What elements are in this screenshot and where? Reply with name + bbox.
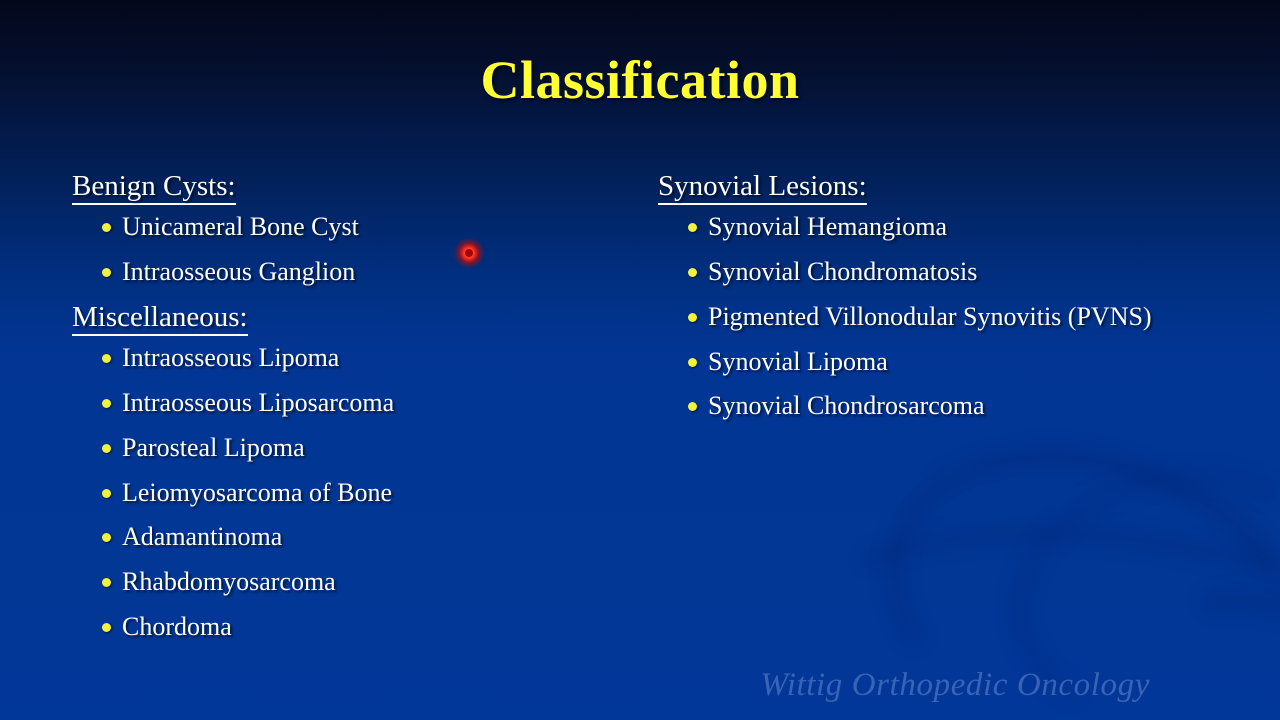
bullet-list-miscellaneous: Intraosseous Lipoma Intraosseous Liposar…: [72, 342, 632, 642]
right-content-column: Synovial Lesions: Synovial Hemangioma Sy…: [658, 170, 1218, 435]
section-benign-cysts: Benign Cysts:: [72, 170, 632, 211]
section-heading-synovial-lesions: Synovial Lesions:: [658, 170, 867, 205]
section-miscellaneous: Miscellaneous:: [72, 301, 632, 342]
list-item: Leiomyosarcoma of Bone: [72, 477, 632, 509]
list-item: Intraosseous Ganglion: [72, 256, 632, 288]
laser-pointer-dot-icon: [454, 238, 484, 268]
list-item: Rhabdomyosarcoma: [72, 566, 632, 598]
list-item: Intraosseous Lipoma: [72, 342, 632, 374]
list-item: Intraosseous Liposarcoma: [72, 387, 632, 419]
list-item: Unicameral Bone Cyst: [72, 211, 632, 243]
list-item: Synovial Hemangioma: [658, 211, 1218, 243]
section-synovial-lesions: Synovial Lesions:: [658, 170, 1218, 211]
list-item: Pigmented Villonodular Synovitis (PVNS): [658, 301, 1218, 333]
list-item: Parosteal Lipoma: [72, 432, 632, 464]
bullet-list-benign-cysts: Unicameral Bone Cyst Intraosseous Gangli…: [72, 211, 632, 287]
presentation-slide: Classification Benign Cysts: Unicameral …: [0, 0, 1280, 720]
left-content-column: Benign Cysts: Unicameral Bone Cyst Intra…: [72, 170, 632, 655]
watermark-text: Wittig Orthopedic Oncology: [0, 667, 1150, 704]
list-item: Synovial Chondrosarcoma: [658, 390, 1218, 422]
list-item: Adamantinoma: [72, 521, 632, 553]
list-item: Synovial Lipoma: [658, 346, 1218, 378]
list-item: Chordoma: [72, 611, 632, 643]
section-heading-benign-cysts: Benign Cysts:: [72, 170, 236, 205]
bullet-list-synovial-lesions: Synovial Hemangioma Synovial Chondromato…: [658, 211, 1218, 422]
list-item: Synovial Chondromatosis: [658, 256, 1218, 288]
section-heading-miscellaneous: Miscellaneous:: [72, 301, 248, 336]
slide-title: Classification: [0, 52, 1280, 109]
